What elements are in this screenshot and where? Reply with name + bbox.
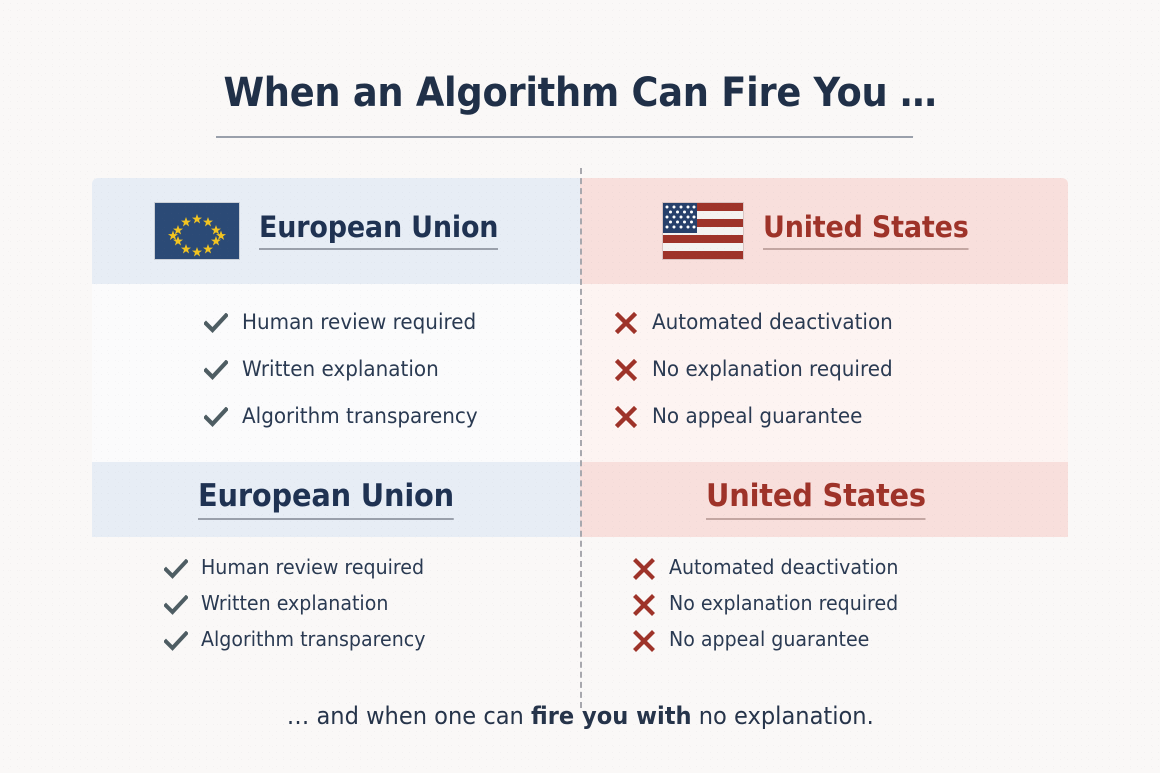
footer-emphasis: fire you with [531, 702, 692, 730]
check-icon [164, 556, 188, 582]
cross-icon [632, 628, 656, 654]
list-item-label: No explanation required [669, 592, 898, 615]
footer-suffix: no explanation. [691, 702, 873, 730]
cross-icon [632, 592, 656, 618]
us-flag-icon [663, 203, 743, 259]
list-item: Written explanation [204, 357, 580, 383]
list-item-label: Written explanation [201, 592, 388, 615]
cross-icon [614, 310, 638, 336]
check-icon [204, 310, 228, 336]
list-item-label: Algorithm transparency [242, 404, 478, 428]
us-header-band-secondary: United States [580, 462, 1068, 537]
title-underline-rule [216, 136, 913, 138]
us-header-band: United States [580, 178, 1068, 284]
list-item: No appeal guarantee [632, 628, 1068, 654]
eu-header-band: European Union [92, 178, 580, 284]
eu-header-band-secondary: European Union [92, 462, 580, 537]
page-title-wrap: When an Algorithm Can Fire You … [0, 72, 1160, 114]
footer-prefix: … and when one can [286, 702, 530, 730]
cross-icon [614, 404, 638, 430]
check-icon [164, 592, 188, 618]
list-item-label: Human review required [242, 310, 476, 334]
check-icon [204, 404, 228, 430]
eu-list-bottom: Human review required Written explanatio… [92, 556, 600, 676]
list-item: Algorithm transparency [164, 628, 600, 654]
check-icon [204, 357, 228, 383]
list-item-label: Human review required [201, 556, 424, 579]
eu-label-secondary: European Union [198, 479, 454, 520]
list-item-label: Written explanation [242, 357, 439, 381]
column-european-union-secondary: European Union [92, 462, 580, 537]
list-item: No explanation required [614, 357, 1068, 383]
column-divider [580, 168, 582, 708]
list-item: Automated deactivation [632, 556, 1068, 582]
check-icon [164, 628, 188, 654]
us-label: United States [763, 212, 969, 251]
list-item-label: Algorithm transparency [201, 628, 425, 651]
eu-label: European Union [259, 212, 498, 251]
list-item: Human review required [164, 556, 600, 582]
list-item: Automated deactivation [614, 310, 1068, 336]
list-item-label: No appeal guarantee [652, 404, 862, 428]
list-item-label: Automated deactivation [669, 556, 898, 579]
list-item: Human review required [204, 310, 580, 336]
us-list-bottom: Automated deactivation No explanation re… [600, 556, 1068, 676]
list-item-label: Automated deactivation [652, 310, 893, 334]
list-item: Algorithm transparency [204, 404, 580, 430]
eu-flag-icon [155, 203, 239, 259]
list-item-label: No explanation required [652, 357, 893, 381]
us-label-secondary: United States [706, 479, 926, 520]
cross-icon [614, 357, 638, 383]
list-item: No appeal guarantee [614, 404, 1068, 430]
column-united-states-secondary: United States [580, 462, 1068, 537]
list-item: Written explanation [164, 592, 600, 618]
list-item-label: No appeal guarantee [669, 628, 869, 651]
list-item: No explanation required [632, 592, 1068, 618]
page-title: When an Algorithm Can Fire You … [46, 72, 1113, 114]
cross-icon [632, 556, 656, 582]
